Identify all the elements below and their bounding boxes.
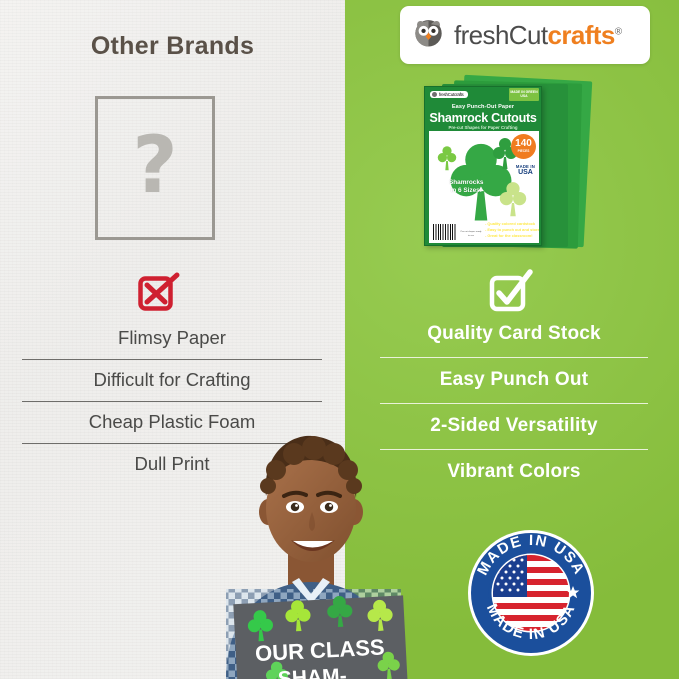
brand-name-crafts: crafts (547, 20, 614, 50)
brand-wordmark: freshCutcrafts® (454, 20, 621, 51)
callout-line-2: in 6 Sizes! (449, 187, 483, 195)
package-artwork-area: 140 PIECES MADE IN USA Shamrocks in 6 Si… (429, 131, 539, 243)
owl-icon (412, 16, 445, 54)
other-brands-title: Other Brands (0, 32, 345, 61)
question-mark-icon: ? (132, 127, 177, 205)
barcode-icon (433, 224, 457, 240)
list-item: - Quality colored cardstock (485, 221, 539, 227)
package-bullet-list: - Quality colored cardstock - Easy to pu… (485, 221, 539, 239)
callout-line-1: Shamrocks (449, 179, 483, 187)
list-item: Quality Card Stock (380, 312, 648, 357)
list-item: Flimsy Paper (22, 318, 322, 359)
piece-count-label: PIECES (518, 150, 530, 153)
package-corner-badge: MADE IN GREEN USA (509, 88, 539, 101)
red-x-checkbox-icon (136, 269, 182, 315)
package-front-face: freshCutcrafts MADE IN GREEN USA Easy Pu… (424, 86, 542, 246)
product-comparison-infographic: Other Brands ? Flimsy Paper Difficult fo… (0, 0, 679, 679)
piece-count-burst: 140 PIECES (511, 134, 536, 159)
package-title: Shamrock Cutouts (425, 111, 541, 125)
package-brand-text: freshCutcrafts (439, 92, 464, 97)
package-fineprint: Pre-cut shapes ready to use (460, 231, 482, 238)
package-subtitle: Pre-cut Shapes for Paper Crafting (425, 125, 541, 130)
usa-label: USA (516, 169, 535, 176)
list-item: Difficult for Crafting (22, 359, 322, 401)
unknown-product-placeholder: ? (95, 96, 215, 240)
piece-count-number: 140 (515, 139, 532, 149)
package-made-in-usa-stamp: MADE IN USA (516, 165, 535, 176)
package-eyebrow: Easy Punch-Out Paper (425, 104, 541, 110)
smiling-boy-photo: OUR CLASS SHAM- (196, 404, 426, 679)
product-package-image: freshCutcrafts MADE IN GREEN USA Easy Pu… (412, 72, 598, 252)
registered-trademark-icon: ® (615, 26, 622, 37)
sign-line-2: SHAM- (277, 664, 347, 679)
owl-icon (432, 92, 437, 97)
brand-name-fresh: freshCut (454, 20, 547, 50)
package-top-bar: freshCutcrafts MADE IN GREEN USA (425, 87, 541, 102)
package-callout: Shamrocks in 6 Sizes! (449, 179, 483, 195)
list-item: Easy Punch Out (380, 357, 648, 403)
list-item: - Great for the classroom! (485, 233, 539, 239)
package-brand-logo: freshCutcrafts (430, 91, 468, 98)
white-checkmark-checkbox-icon (487, 268, 535, 316)
made-in-usa-badge: MADE IN USA MADE IN USA (466, 528, 596, 658)
brand-logo-card: freshCutcrafts® (400, 6, 650, 64)
